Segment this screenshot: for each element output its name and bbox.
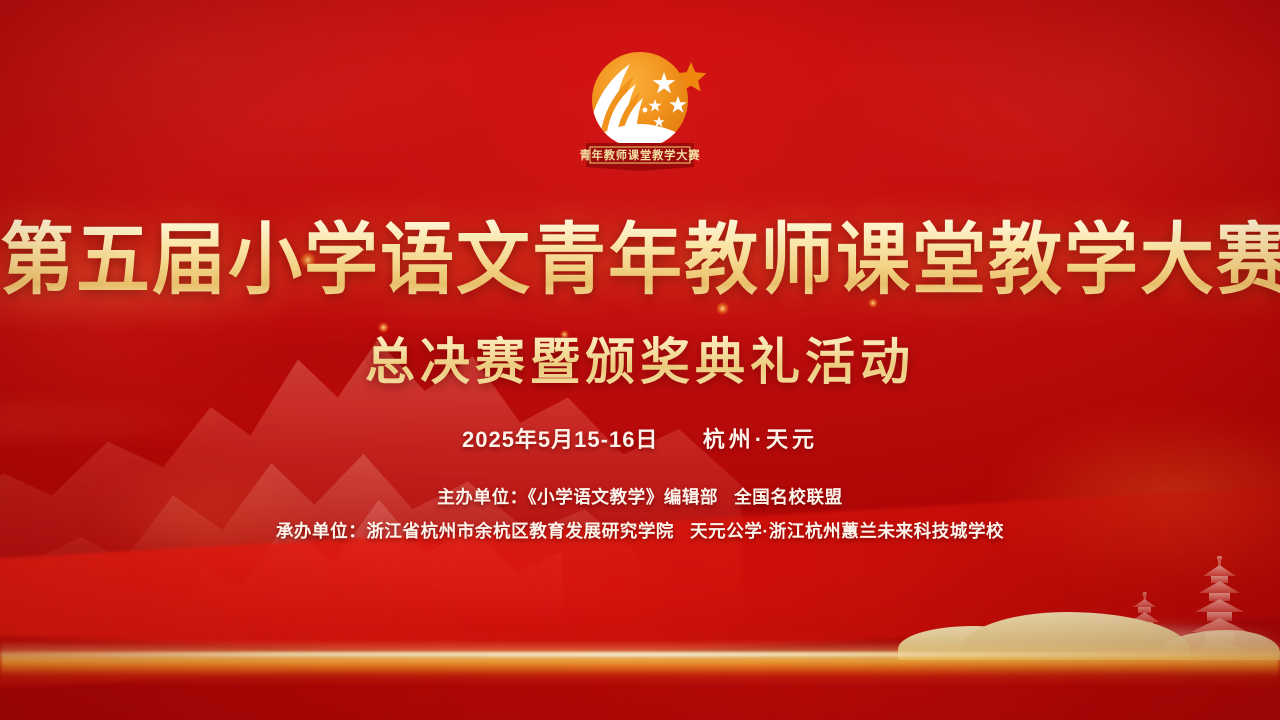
poster-stage: 青年教师课堂教学大赛 第五届小学语文青年教师课堂教学大赛 总决赛暨颁奖典礼活动 … xyxy=(0,0,1280,720)
event-date: 2025年5月15-16日 xyxy=(462,427,658,452)
main-title: 第五届小学语文青年教师课堂教学大赛 xyxy=(0,220,1280,305)
organizer-line-host: 主办单位：《小学语文教学》编辑部全国名校联盟 xyxy=(0,480,1280,514)
organizer-line-organizer: 承办单位：浙江省杭州市余杭区教育发展研究学院天元公学·浙江杭州蕙兰未来科技城学校 xyxy=(0,514,1280,548)
organizer-value-2: 天元公学·浙江杭州蕙兰未来科技城学校 xyxy=(690,521,1004,541)
horizon-light-band xyxy=(0,640,1280,686)
logo-banner-text: 青年教师课堂教学大赛 xyxy=(580,148,701,162)
host-label: 主办单位： xyxy=(437,487,528,507)
host-value-2: 全国名校联盟 xyxy=(734,487,843,507)
event-logo: 青年教师课堂教学大赛 xyxy=(560,44,720,172)
host-value-1: 《小学语文教学》编辑部 xyxy=(528,487,718,507)
organizers-block: 主办单位：《小学语文教学》编辑部全国名校联盟 承办单位：浙江省杭州市余杭区教育发… xyxy=(0,480,1280,548)
sub-title: 总决赛暨颁奖典礼活动 xyxy=(0,322,1280,394)
date-location-line: 2025年5月15-16日 杭州·天元 xyxy=(0,422,1280,454)
organizer-label: 承办单位： xyxy=(276,521,367,541)
horizon-light-core xyxy=(0,652,1280,657)
event-location: 杭州·天元 xyxy=(703,427,818,452)
poster-content: 第五届小学语文青年教师课堂教学大赛 总决赛暨颁奖典礼活动 2025年5月15-1… xyxy=(0,222,1280,548)
organizer-value-1: 浙江省杭州市余杭区教育发展研究学院 xyxy=(366,521,674,541)
